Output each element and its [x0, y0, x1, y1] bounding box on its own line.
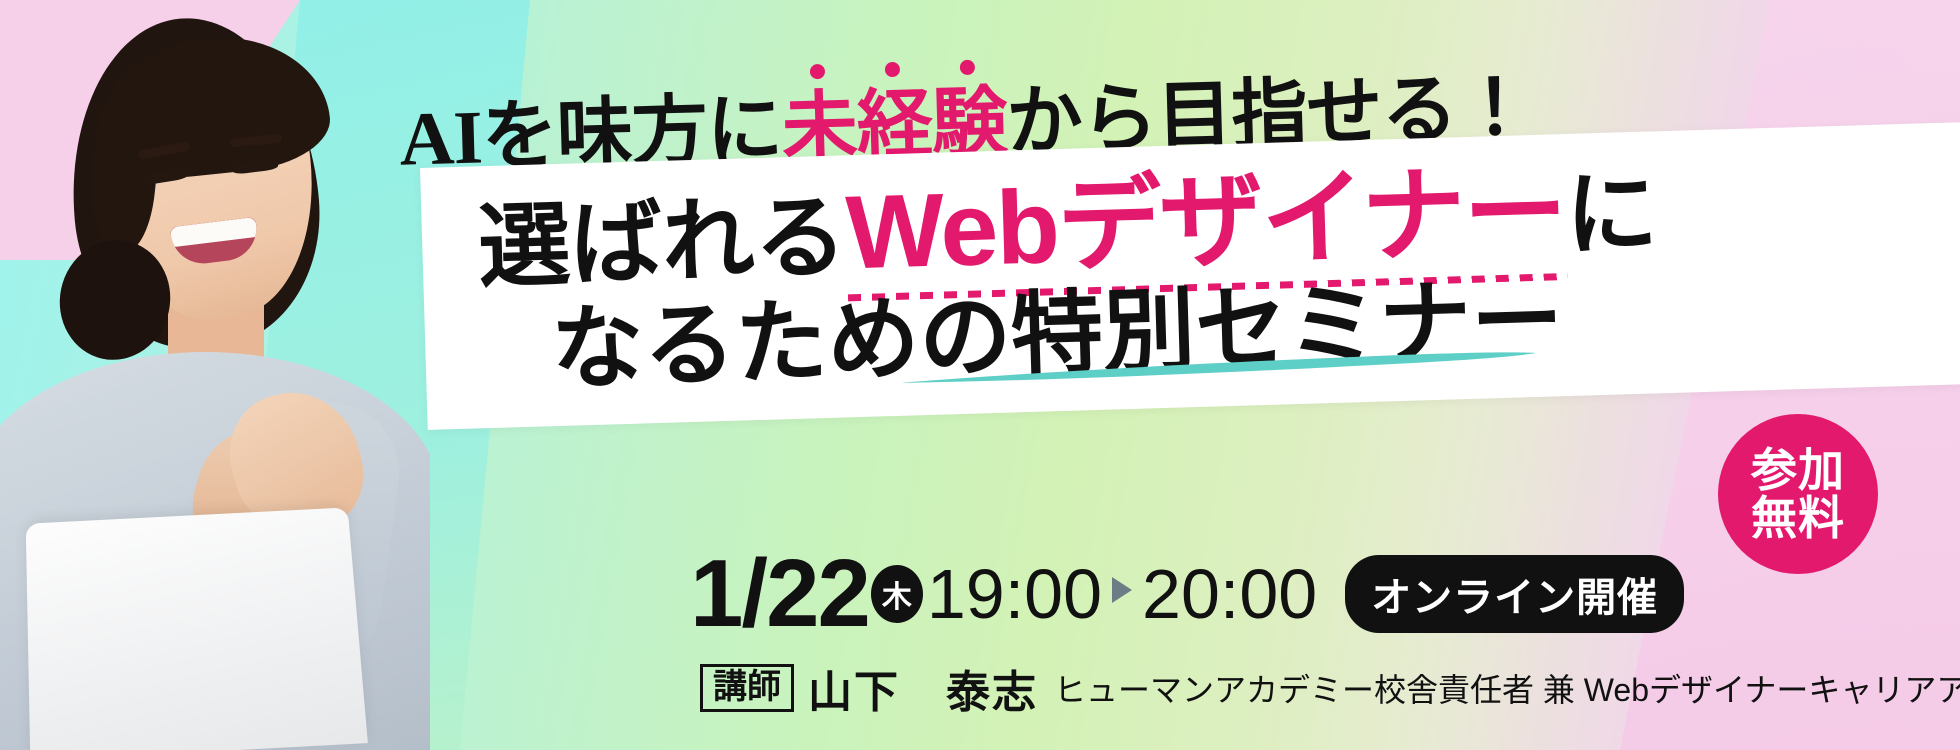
start-time: 19:00	[927, 559, 1102, 629]
end-time: 20:00	[1142, 559, 1317, 629]
instructor-row: 講師 山下 泰志 ヒューマンアカデミー校舎責任者 兼 Webデザイナーキャリアア…	[700, 660, 1960, 716]
headline-line1-pre: 選ばれる	[477, 191, 848, 294]
instructor-label: 講師	[700, 664, 794, 711]
event-date: 1/22	[690, 546, 869, 642]
online-format-badge: オンライン開催	[1345, 555, 1684, 633]
headline-line1-post: に	[1564, 167, 1659, 262]
headline-line1-accent: Webデザイナー	[844, 154, 1567, 291]
triangle-right-icon	[1112, 577, 1132, 603]
presenter-photo	[0, 0, 430, 750]
instructor-role: ヒューマンアカデミー校舎責任者 兼 Webデザイナーキャリアアドバイザー	[1054, 665, 1960, 711]
schedule-row: 1/22 木 19:00 20:00 オンライン開催	[690, 548, 1684, 640]
day-of-week-badge: 木	[871, 565, 923, 623]
headline-accent-wrap: Webデザイナー	[845, 160, 1567, 285]
laptop	[26, 507, 368, 750]
emphasis-dots-icon	[780, 59, 1005, 80]
free-badge-line1: 参加	[1751, 446, 1845, 494]
headline-panel: 選ばれる Webデザイナー に なるための特別セミナー	[420, 122, 1960, 430]
free-badge-line2: 無料	[1751, 494, 1845, 542]
seminar-banner: AIを味方に 未経験 から目指せる！ 選ばれる Webデザイナー に なるための…	[0, 0, 1960, 750]
free-participation-badge: 参加 無料	[1718, 414, 1878, 574]
instructor-name: 山下 泰志	[808, 656, 1038, 720]
